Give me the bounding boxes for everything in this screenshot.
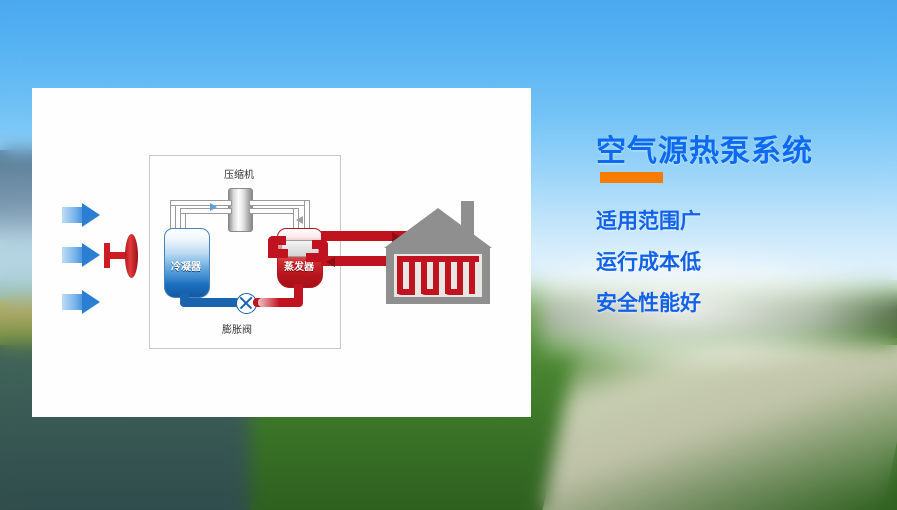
arrow-head: [82, 290, 100, 314]
arrow-head: [82, 243, 100, 267]
arrow-tail: [62, 247, 84, 263]
feature-item-2: 运行成本低: [596, 246, 701, 276]
pipe-liquid-line: [180, 298, 240, 307]
pipe-evaporator-inlet: [294, 284, 303, 304]
flow-arrow-compressor-out: [296, 216, 303, 224]
floor-coil-u1: [397, 289, 415, 295]
house-graphic: [383, 196, 493, 306]
feature-item-1: 适用范围广: [596, 205, 701, 235]
fan-blade: [125, 234, 138, 278]
compressor-label: 压缩机: [224, 170, 254, 182]
house-roof: [384, 208, 492, 248]
pipe-gray-top-right-inner: [249, 208, 299, 214]
fan-icon: [104, 233, 142, 279]
arrow-tail: [62, 294, 84, 310]
floor-coil-n2: [433, 256, 451, 262]
evap-coil-3: [268, 249, 288, 258]
airflow-arrow-2: [62, 243, 100, 267]
airflow-arrow-1: [62, 203, 100, 227]
expansion-valve-label: 膨胀阀: [222, 325, 252, 337]
flow-arrow-house-return: [326, 257, 335, 267]
flow-gradient-suction: [258, 298, 280, 307]
pipe-gray-top-right-outer: [249, 200, 310, 206]
pipe-gray-top-left-outer: [170, 200, 232, 206]
slide-canvas: 压缩机 冷凝器 蒸发器 膨胀阀: [0, 0, 897, 510]
floor-coil-n3: [457, 256, 475, 262]
feature-item-3: 安全性能好: [596, 287, 701, 317]
page-title: 空气源热泵系统: [596, 126, 813, 170]
condenser-label: 冷凝器: [166, 258, 206, 273]
title-accent-rule: [600, 172, 663, 183]
floor-coil-u3: [445, 289, 463, 295]
arrow-head: [82, 203, 100, 227]
airflow-arrow-3: [62, 290, 100, 314]
floor-coil-n1: [409, 256, 427, 262]
arrow-tail: [62, 207, 84, 223]
pipe-gray-top-left-inner: [180, 208, 232, 214]
flow-arrow-compressor-in: [210, 203, 217, 211]
floor-coil-u2: [421, 289, 439, 295]
